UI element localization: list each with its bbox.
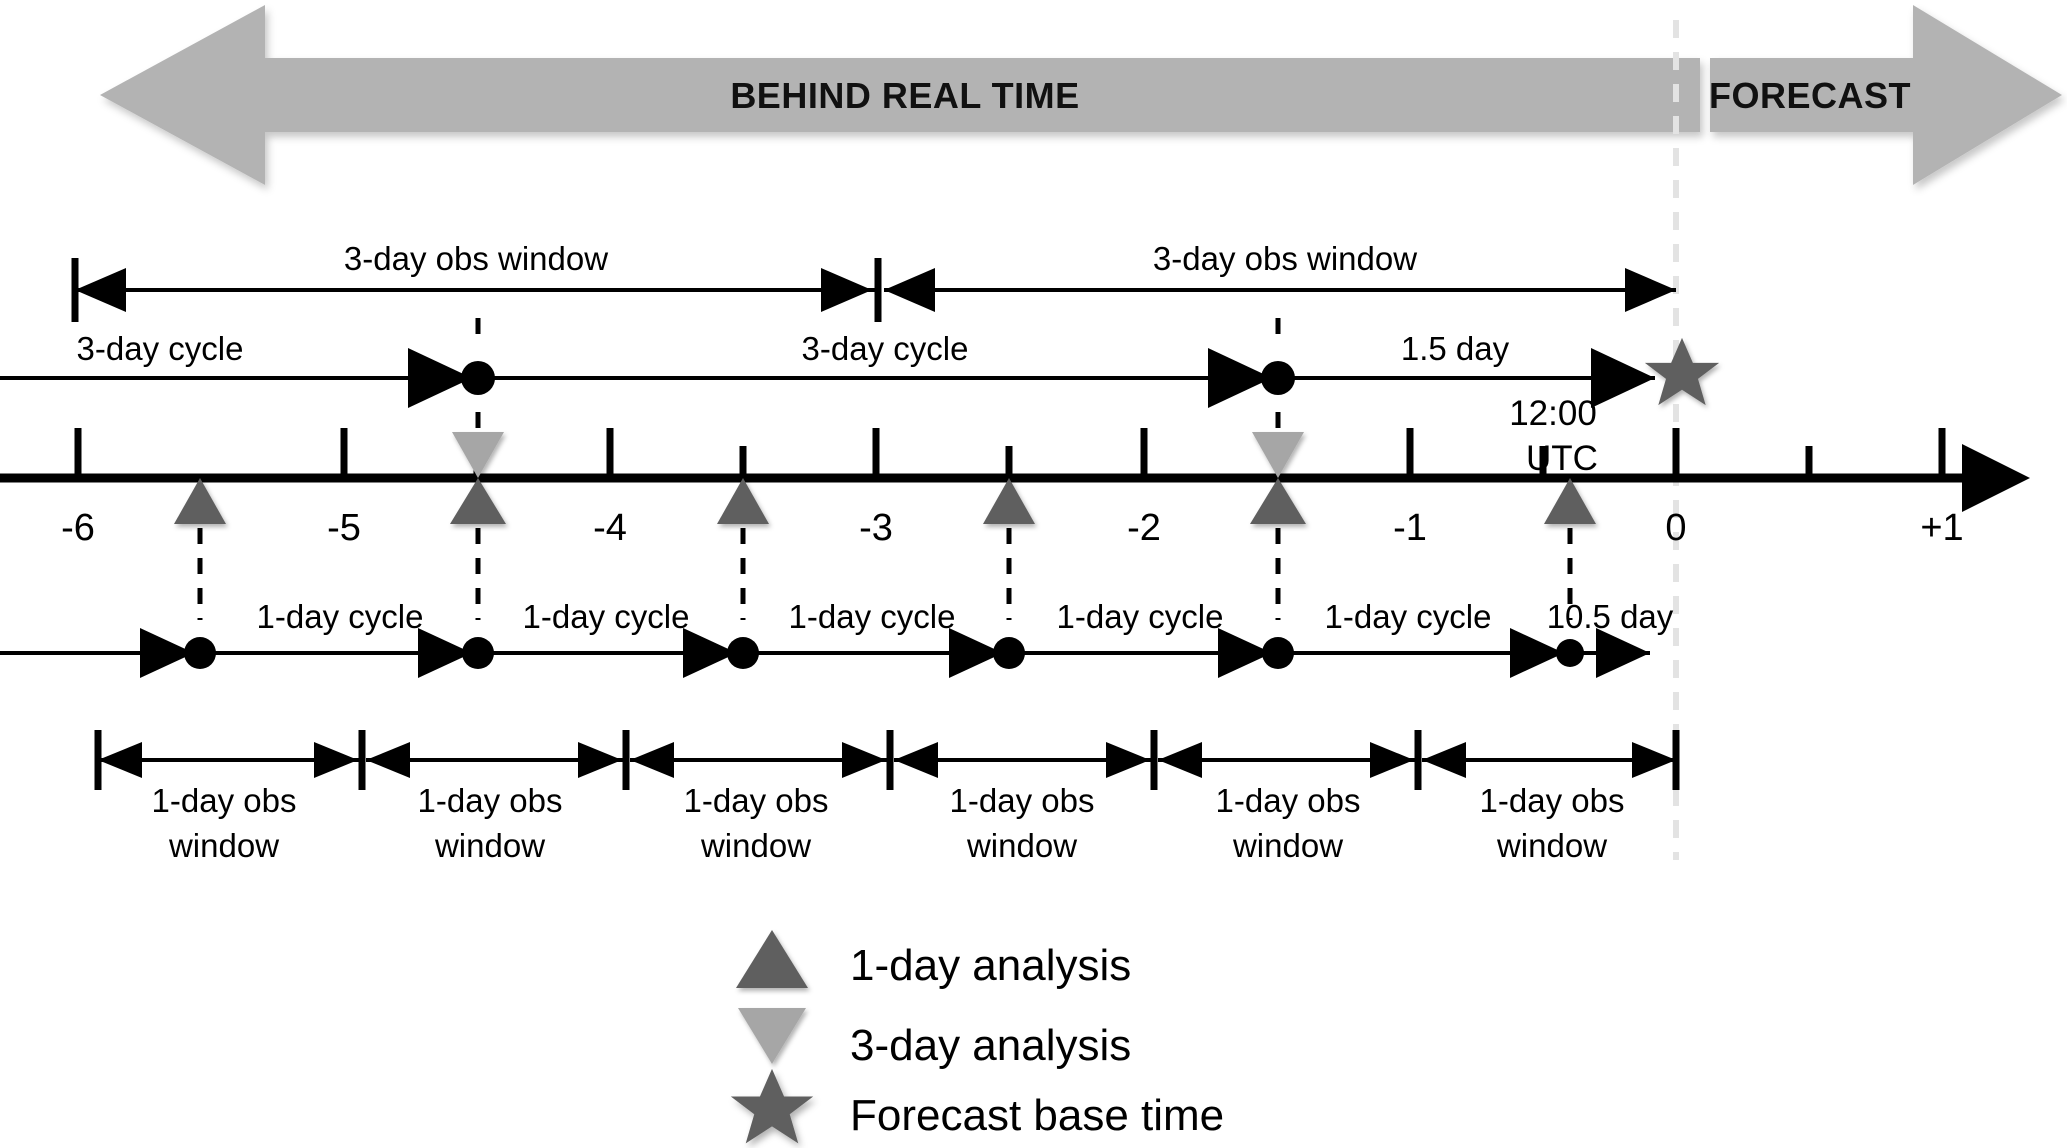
one-day-obs-label: 1-day obs	[950, 782, 1095, 819]
obs-window-span	[1158, 742, 1418, 778]
obs-window-span	[630, 742, 890, 778]
behind-real-time-label: BEHIND REAL TIME	[730, 75, 1079, 116]
lead-time-label-10p5: 10.5 day	[1547, 598, 1674, 635]
legend-item-1day-analysis: 1-day analysis	[736, 930, 1131, 990]
legend: 1-day analysis 3-day analysis Forecast b…	[731, 930, 1224, 1143]
axis-tick-label: -6	[61, 507, 95, 549]
legend-item-3day-analysis: 3-day analysis	[738, 1008, 1131, 1070]
obs-window-span	[98, 742, 362, 778]
one-day-obs-label: window	[1496, 827, 1607, 864]
forecast-base-time-star	[1645, 338, 1719, 405]
axis-tick-label: +1	[1920, 507, 1963, 549]
axis-tick-label: -4	[593, 507, 627, 549]
one-day-obs-label: window	[168, 827, 279, 864]
star-icon	[731, 1069, 813, 1144]
one-day-obs-label: 1-day obs	[418, 782, 563, 819]
triangle-up-icon	[736, 930, 808, 988]
forecast-label: FORECAST	[1709, 75, 1911, 116]
legend-item-forecast-base-time: Forecast base time	[731, 1069, 1224, 1144]
utc-time-label-line1: 12:00	[1509, 394, 1597, 433]
legend-label: 3-day analysis	[850, 1021, 1131, 1070]
one-day-cycle-marker	[140, 628, 216, 678]
one-day-cycle-marker	[683, 628, 759, 678]
lead-time-label-1p5: 1.5 day	[1401, 330, 1510, 367]
three-day-cycle-marker-1	[408, 318, 495, 452]
obs-window-span	[366, 742, 626, 778]
three-day-obs-windows: 3-day obs window 3-day obs window	[75, 240, 1676, 322]
legend-label: 1-day analysis	[850, 941, 1131, 990]
obs-window-span	[894, 742, 1154, 778]
one-day-cycle-marker	[1510, 628, 1584, 678]
one-day-obs-windows: 1-day obs window 1-day obs window 1-day …	[98, 730, 1676, 864]
one-day-cycle-row: 1-day cycle 1-day cycle 1-day cycle 1-da…	[0, 528, 1674, 678]
axis-tick-label: 0	[1665, 507, 1686, 549]
one-day-obs-label: window	[434, 827, 545, 864]
one-day-cycle-label: 1-day cycle	[523, 598, 690, 635]
axis-tick-label: -1	[1393, 507, 1427, 549]
forecast-arrowhead	[1591, 348, 1655, 408]
one-day-obs-label: 1-day obs	[684, 782, 829, 819]
timeline-diagram: BEHIND REAL TIME FORECAST 3-day obs wind…	[0, 0, 2067, 1148]
three-day-cycle-marker-2	[1208, 318, 1295, 452]
one-day-cycle-label: 1-day cycle	[1325, 598, 1492, 635]
one-day-cycle-label: 1-day cycle	[257, 598, 424, 635]
one-day-cycle-marker	[949, 628, 1025, 678]
obs-window-label-2: 3-day obs window	[1153, 240, 1417, 277]
one-day-obs-label: window	[700, 827, 811, 864]
main-time-axis: -6 -5 -4 -3 -2 -1 0 +1	[0, 428, 2030, 549]
legend-label: Forecast base time	[850, 1091, 1224, 1140]
one-day-obs-label: 1-day obs	[1480, 782, 1625, 819]
one-day-obs-label: 1-day obs	[1216, 782, 1361, 819]
one-day-terminal-arrowhead	[1596, 628, 1650, 678]
one-day-cycle-marker	[1218, 628, 1294, 678]
triangle-down-icon	[738, 1008, 806, 1064]
one-day-obs-label: window	[966, 827, 1077, 864]
banner-group: BEHIND REAL TIME FORECAST	[100, 5, 2062, 185]
obs-window-span	[1422, 742, 1676, 778]
obs-window-label-1: 3-day obs window	[344, 240, 608, 277]
axis-arrowhead	[1962, 444, 2030, 512]
axis-tick-label: -2	[1127, 507, 1161, 549]
one-day-cycle-label: 1-day cycle	[789, 598, 956, 635]
axis-tick-label: -5	[327, 507, 361, 549]
one-day-obs-label: window	[1232, 827, 1343, 864]
three-day-cycle-label-1: 3-day cycle	[77, 330, 244, 367]
three-day-cycle-label-2: 3-day cycle	[802, 330, 969, 367]
one-day-cycle-marker	[418, 628, 494, 678]
utc-time-label-line2: UTC	[1526, 439, 1598, 478]
one-day-obs-label: 1-day obs	[152, 782, 297, 819]
axis-tick-label: -3	[859, 507, 893, 549]
three-day-cycle-row: 3-day cycle 3-day cycle 1.5 day	[0, 318, 1719, 452]
one-day-cycle-label: 1-day cycle	[1057, 598, 1224, 635]
